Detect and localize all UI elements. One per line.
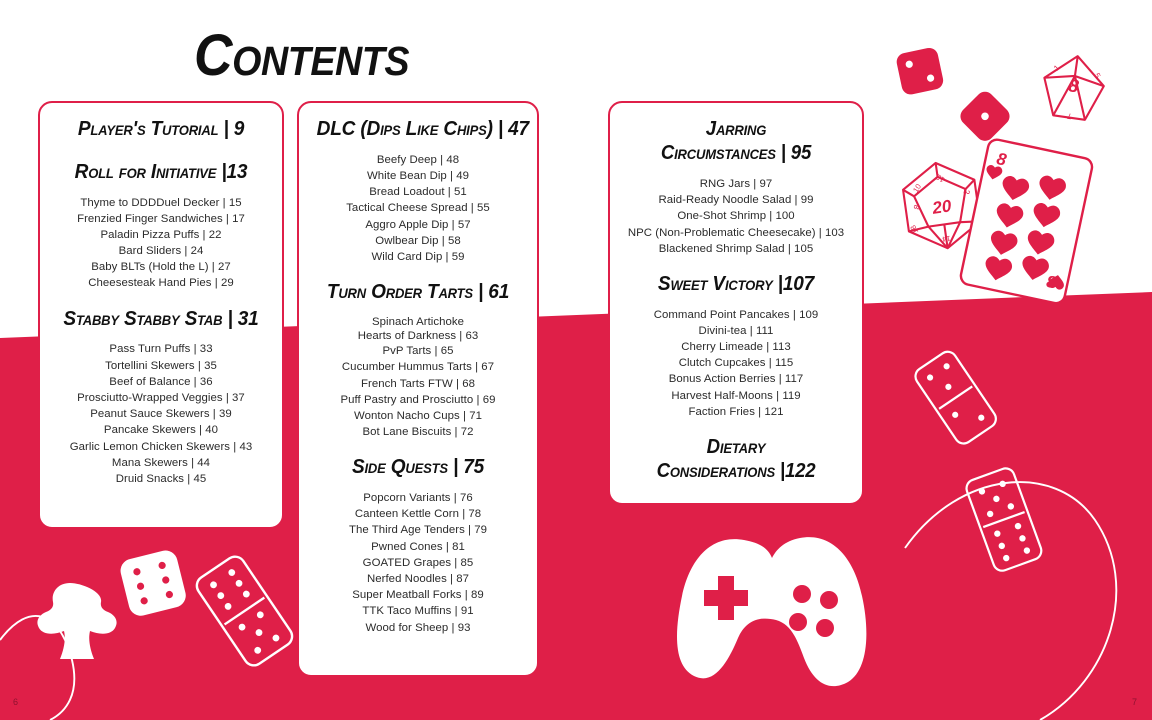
section-heading[interactable]: Turn Order Tarts | 61 (317, 280, 520, 304)
toc-entry[interactable]: Cucumber Hummus Tarts | 67 (309, 359, 527, 375)
toc-entry[interactable]: Beefy Deep | 48 (309, 152, 527, 168)
contents-page: 8 1 5 7 20 10 12 8 2 16 (0, 0, 1152, 720)
toc-entry[interactable]: Tortellini Skewers | 35 (50, 358, 272, 374)
toc-entry[interactable]: Blackened Shrimp Salad | 105 (620, 241, 852, 257)
toc-entry[interactable]: Frenzied Finger Sandwiches | 17 (50, 211, 272, 227)
section-heading-line1[interactable]: Jarring (628, 117, 844, 141)
svg-text:8: 8 (1067, 75, 1080, 96)
svg-text:12: 12 (934, 172, 946, 184)
page-number-left: 6 (13, 697, 18, 707)
section-heading-line2[interactable]: Circumstances | 95 (628, 141, 844, 165)
toc-entry[interactable]: Peanut Sauce Skewers | 39 (50, 406, 272, 422)
page-title: Contents (194, 22, 409, 89)
toc-entry[interactable]: French Tarts FTW | 68 (309, 376, 527, 392)
section-heading[interactable]: Sweet Victory |107 (628, 272, 844, 296)
playing-card-8-hearts: 8 8 (959, 138, 1093, 305)
section-heading[interactable]: Player's Tutorial | 9 (58, 117, 264, 141)
toc-entry[interactable]: TTK Taco Muffins | 91 (309, 603, 527, 619)
contents-column-3: Jarring Circumstances | 95 RNG Jars | 97… (608, 101, 864, 505)
section-heading-line2[interactable]: Considerations |122 (628, 459, 844, 483)
toc-entry[interactable]: Pancake Skewers | 40 (50, 422, 272, 438)
toc-entry[interactable]: White Bean Dip | 49 (309, 168, 527, 184)
toc-entry[interactable]: Canteen Kettle Corn | 78 (309, 506, 527, 522)
toc-entry[interactable]: Garlic Lemon Chicken Skewers | 43 (50, 439, 272, 455)
toc-entry[interactable]: Spinach Artichoke (309, 315, 527, 329)
svg-text:1: 1 (1052, 63, 1062, 73)
toc-entry[interactable]: Puff Pastry and Prosciutto | 69 (309, 392, 527, 408)
section-heading[interactable]: Side Quests | 75 (317, 455, 520, 479)
die-d8-icon: 8 1 5 7 (1039, 52, 1107, 125)
toc-entry[interactable]: Super Meatball Forks | 89 (309, 587, 527, 603)
svg-text:8: 8 (911, 203, 922, 210)
toc-entry[interactable]: Wild Card Dip | 59 (309, 249, 527, 265)
toc-entry[interactable]: Divini-tea | 111 (620, 323, 852, 339)
toc-entry[interactable]: Command Point Pancakes | 109 (620, 307, 852, 323)
section-heading[interactable]: Roll for Initiative |13 (58, 160, 264, 184)
svg-text:14: 14 (942, 234, 952, 244)
toc-entry[interactable]: Pass Turn Puffs | 33 (50, 341, 272, 357)
svg-text:8: 8 (995, 149, 1009, 170)
svg-text:7: 7 (1066, 111, 1072, 121)
toc-entry[interactable]: PvP Tarts | 65 (309, 343, 527, 359)
toc-entry[interactable]: Popcorn Variants | 76 (309, 490, 527, 506)
toc-entry[interactable]: Bard Sliders | 24 (50, 243, 272, 259)
toc-entry[interactable]: Pwned Cones | 81 (309, 539, 527, 555)
toc-entry[interactable]: Wood for Sheep | 93 (309, 620, 527, 636)
contents-column-2: DLC (Dips Like Chips) | 47 Beefy Deep | … (297, 101, 539, 677)
svg-text:16: 16 (971, 204, 982, 214)
die-two-pips-icon (895, 46, 945, 96)
contents-column-1: Player's Tutorial | 9 Roll for Initiativ… (38, 101, 284, 529)
toc-entry[interactable]: Thyme to DDDDuel Decker | 15 (50, 195, 272, 211)
toc-entry[interactable]: Druid Snacks | 45 (50, 471, 272, 487)
section-heading[interactable]: Stabby Stabby Stab | 31 (58, 307, 264, 331)
svg-text:5: 5 (1092, 72, 1102, 81)
svg-text:10: 10 (911, 182, 923, 194)
svg-text:20: 20 (930, 196, 953, 218)
toc-entry[interactable]: Bonus Action Berries | 117 (620, 371, 852, 387)
toc-entry[interactable]: Mana Skewers | 44 (50, 455, 272, 471)
toc-entry[interactable]: Raid-Ready Noodle Salad | 99 (620, 192, 852, 208)
toc-entry[interactable]: Wonton Nacho Cups | 71 (309, 408, 527, 424)
toc-entry[interactable]: Bot Lane Biscuits | 72 (309, 424, 527, 440)
toc-entry[interactable]: Faction Fries | 121 (620, 404, 852, 420)
toc-entry[interactable]: Nerfed Noodles | 87 (309, 571, 527, 587)
toc-entry[interactable]: One-Shot Shrimp | 100 (620, 208, 852, 224)
svg-text:2: 2 (961, 189, 972, 196)
page-number-right: 7 (1132, 697, 1137, 707)
toc-entry[interactable]: Hearts of Darkness | 63 (309, 329, 527, 343)
toc-entry[interactable]: Harvest Half-Moons | 119 (620, 388, 852, 404)
toc-entry[interactable]: RNG Jars | 97 (620, 176, 852, 192)
toc-entry[interactable]: Baby BLTs (Hold the L) | 27 (50, 259, 272, 275)
toc-entry[interactable]: The Third Age Tenders | 79 (309, 522, 527, 538)
toc-entry[interactable]: NPC (Non-Problematic Cheesecake) | 103 (620, 225, 852, 241)
toc-entry[interactable]: Cheesesteak Hand Pies | 29 (50, 275, 272, 291)
toc-entry[interactable]: Tactical Cheese Spread | 55 (309, 200, 527, 216)
toc-entry[interactable]: Bread Loadout | 51 (309, 184, 527, 200)
section-heading[interactable]: DLC (Dips Like Chips) | 47 (317, 117, 520, 141)
toc-entry[interactable]: Aggro Apple Dip | 57 (309, 217, 527, 233)
toc-entry[interactable]: GOATED Grapes | 85 (309, 555, 527, 571)
svg-text:18: 18 (908, 224, 920, 236)
toc-entry[interactable]: Cherry Limeade | 113 (620, 339, 852, 355)
toc-entry[interactable]: Paladin Pizza Puffs | 22 (50, 227, 272, 243)
svg-text:8: 8 (1045, 271, 1059, 292)
section-heading-line1[interactable]: Dietary (628, 435, 844, 459)
die-one-pip-icon (957, 88, 1014, 145)
die-d20-icon: 20 10 12 8 2 16 18 14 (900, 157, 987, 253)
toc-entry[interactable]: Beef of Balance | 36 (50, 374, 272, 390)
toc-entry[interactable]: Owlbear Dip | 58 (309, 233, 527, 249)
toc-entry[interactable]: Prosciutto-Wrapped Veggies | 37 (50, 390, 272, 406)
toc-entry[interactable]: Clutch Cupcakes | 115 (620, 355, 852, 371)
